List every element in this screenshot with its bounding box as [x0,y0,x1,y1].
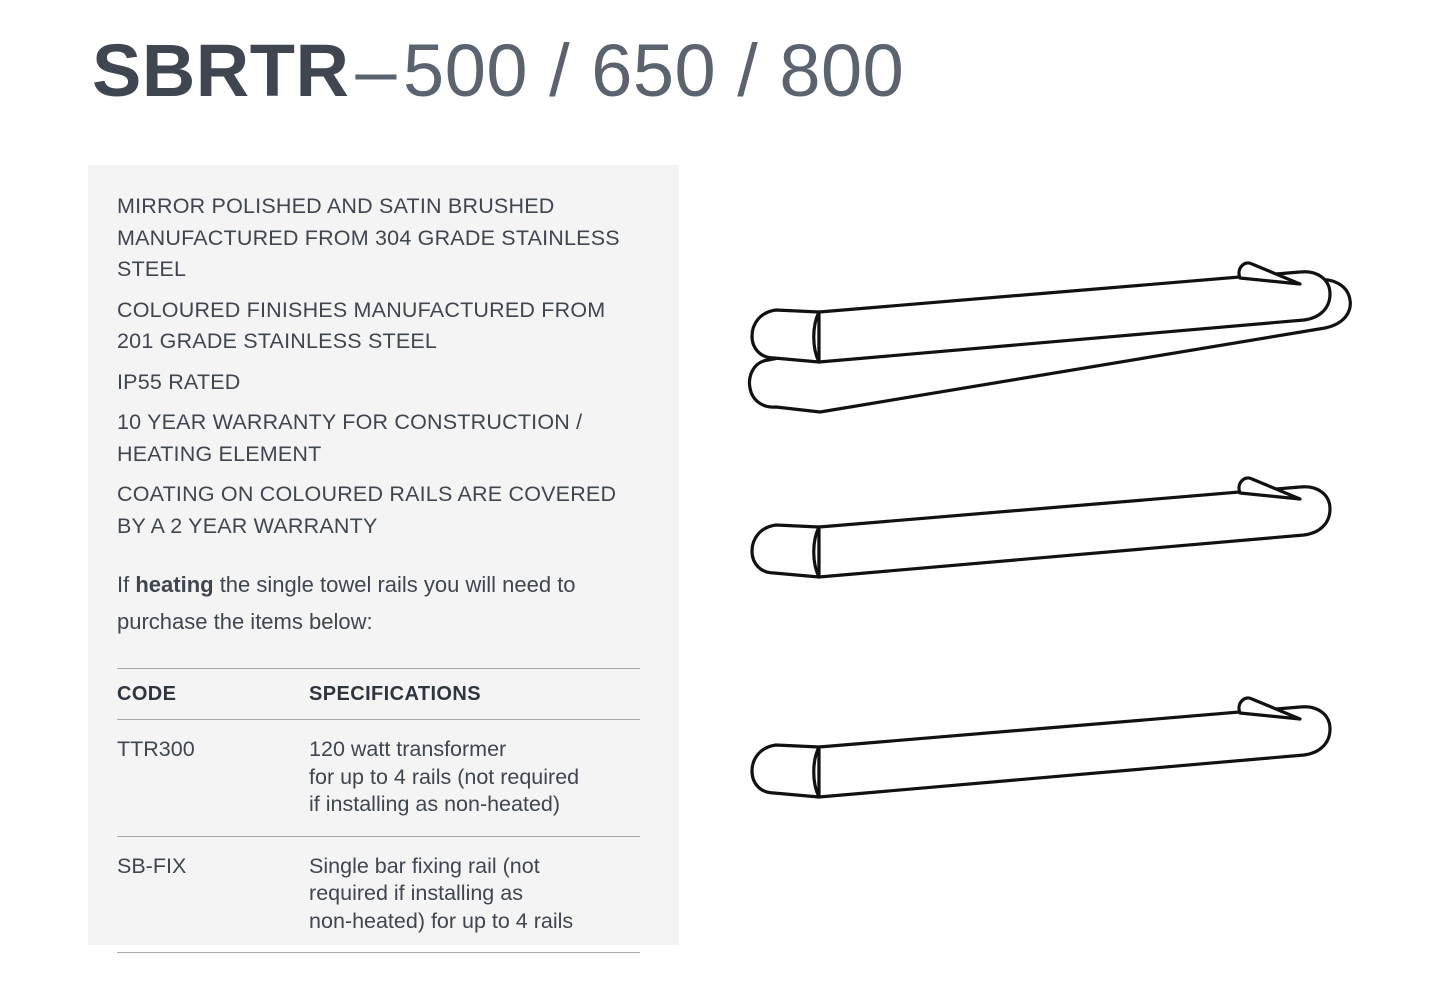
spec-line: Single bar fixing rail (not [309,853,640,881]
spec-line: if installing as non-heated) [309,791,640,819]
cell-specifications: 120 watt transformer for up to 4 rails (… [309,720,640,837]
towel-rail-illustration-3 [752,698,1330,797]
accessories-table: CODE SPECIFICATIONS TTR300 120 watt tran… [117,668,640,953]
feature-item: IP55 RATED [117,367,639,399]
cell-code: TTR300 [117,720,309,837]
spec-line: for up to 4 rails (not required [309,764,640,792]
table-row: SB-FIX Single bar fixing rail (not requi… [117,836,640,953]
heating-note-prefix: If [117,572,135,597]
towel-rail-illustration-2 [752,478,1330,577]
cell-code: SB-FIX [117,836,309,953]
page-title: SBRTR–500 / 650 / 800 [92,28,904,114]
spec-line: required if installing as [309,880,640,908]
feature-item: 10 YEAR WARRANTY FOR CONSTRUCTION / HEAT… [117,407,639,470]
feature-list: MIRROR POLISHED AND SATIN BRUSHED MANUFA… [117,191,639,542]
spec-line: 120 watt transformer [309,736,640,764]
feature-item: MIRROR POLISHED AND SATIN BRUSHED MANUFA… [117,191,639,286]
accessories-table-body: TTR300 120 watt transformer for up to 4 … [117,720,640,953]
heating-note: If heating the single towel rails you wi… [117,566,587,640]
heating-note-emphasis: heating [135,572,213,597]
page-title-sizes: 500 / 650 / 800 [403,29,904,112]
table-row: TTR300 120 watt transformer for up to 4 … [117,720,640,837]
table-header-row: CODE SPECIFICATIONS [117,669,640,720]
feature-item: COATING ON COLOURED RAILS ARE COVERED BY… [117,479,639,542]
spec-line: non-heated) for up to 4 rails [309,908,640,936]
page-title-dash: – [349,29,403,112]
feature-item: COLOURED FINISHES MANUFACTURED FROM 201 … [117,295,639,358]
column-header-code: CODE [117,669,309,720]
page-title-code: SBRTR [92,29,349,112]
accessories-table-head: CODE SPECIFICATIONS [117,669,640,720]
column-header-specifications: SPECIFICATIONS [309,669,640,720]
product-illustration-group [700,250,1400,870]
towel-rail-illustration-1 [750,263,1351,412]
cell-specifications: Single bar fixing rail (not required if … [309,836,640,953]
spec-panel: MIRROR POLISHED AND SATIN BRUSHED MANUFA… [88,165,679,945]
